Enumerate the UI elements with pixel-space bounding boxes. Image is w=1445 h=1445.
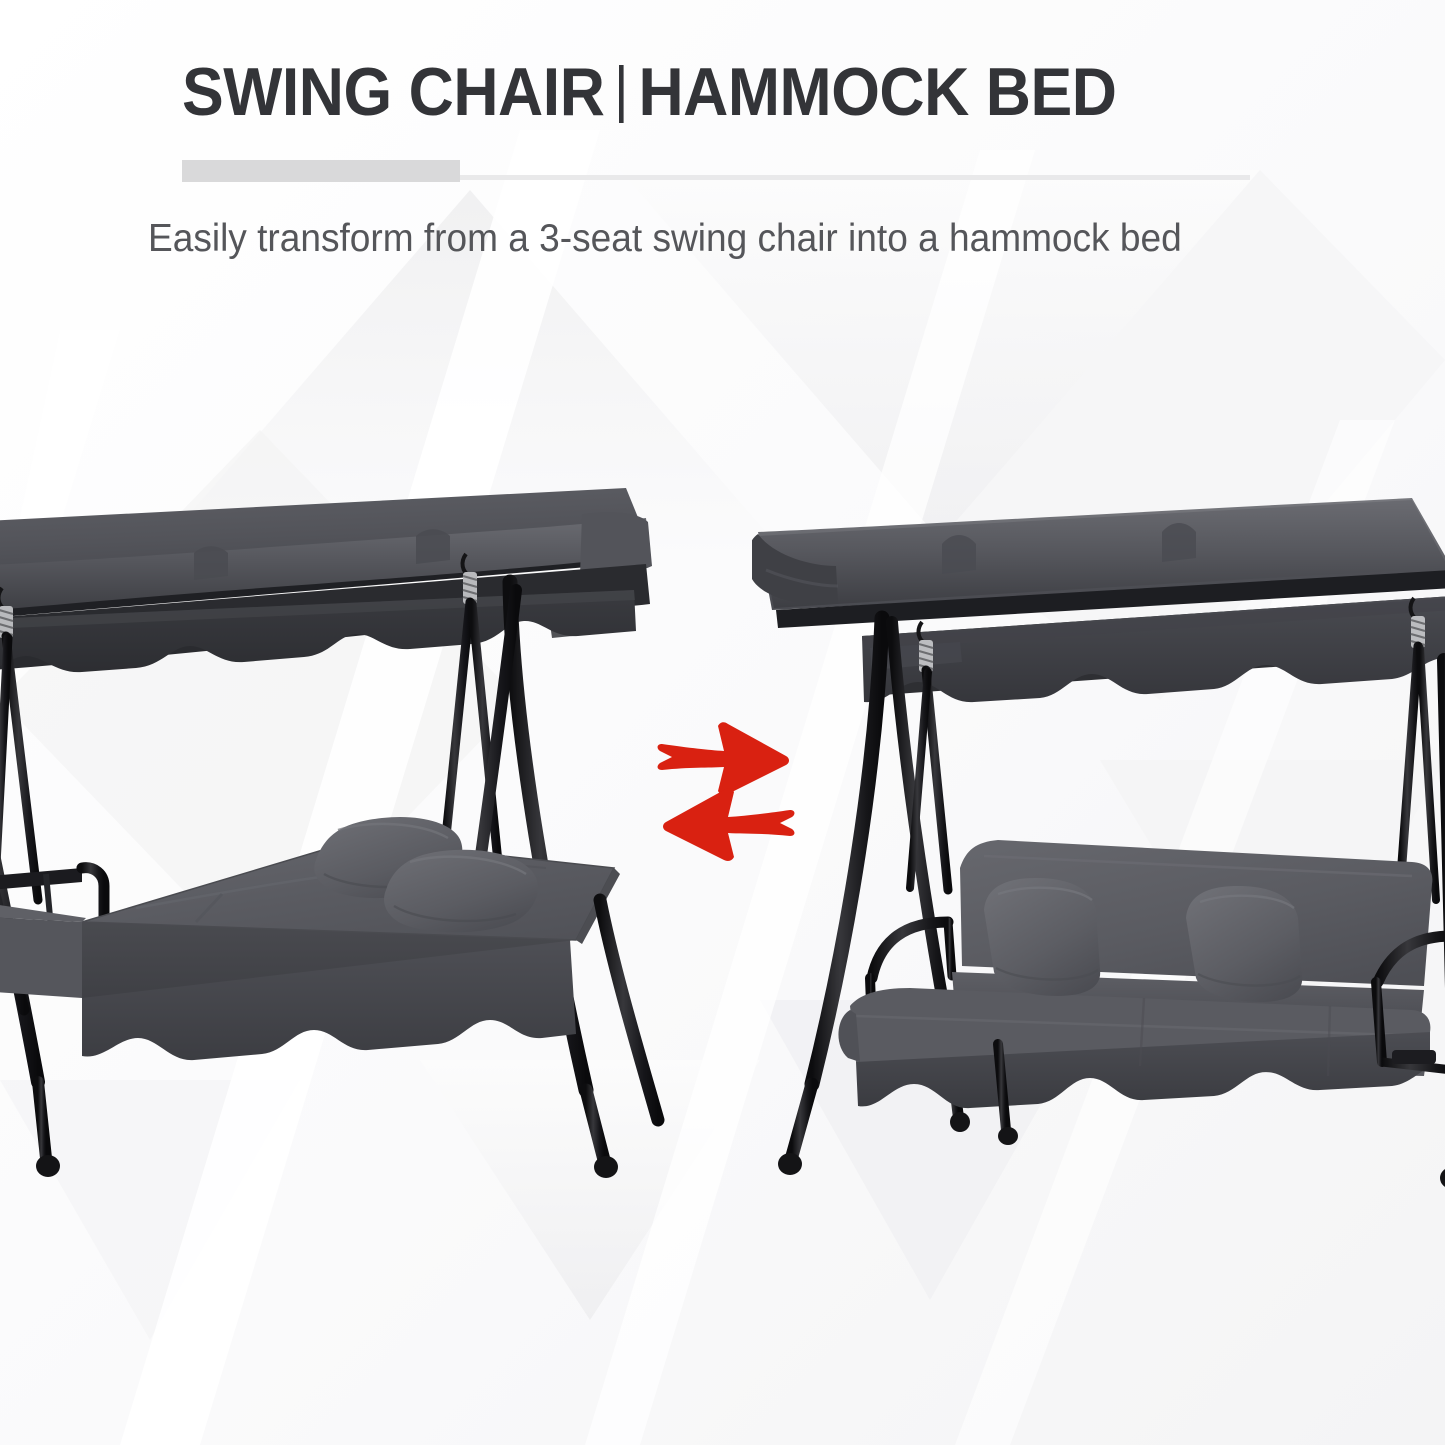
page-subtitle: Easily transform from a 3-seat swing cha… xyxy=(148,213,1288,265)
product-image-hammock-bed xyxy=(0,470,686,1270)
title-divider-bar xyxy=(619,65,624,123)
canopy-assembly-left xyxy=(0,488,652,676)
product-image-swing-chair xyxy=(752,470,1445,1270)
swing-chair-illustration xyxy=(752,470,1445,1270)
title-part-one: SWING CHAIR xyxy=(182,54,604,130)
infographic-canvas: SWING CHAIRHAMMOCK BED Easily transform … xyxy=(0,0,1445,1445)
pillow xyxy=(1186,886,1302,1002)
title-part-two: HAMMOCK BED xyxy=(638,54,1116,130)
title-accent-bar xyxy=(182,160,460,182)
canopy-assembly-right xyxy=(752,498,1445,702)
hammock-bed-illustration xyxy=(0,470,686,1270)
pillow xyxy=(984,878,1100,996)
header: SWING CHAIRHAMMOCK BED Easily transform … xyxy=(0,0,1445,300)
swing-frame-foreground-left xyxy=(600,900,658,1120)
title-accent-line xyxy=(460,175,1250,180)
pillow xyxy=(384,850,538,933)
page-title: SWING CHAIRHAMMOCK BED xyxy=(182,52,1212,132)
